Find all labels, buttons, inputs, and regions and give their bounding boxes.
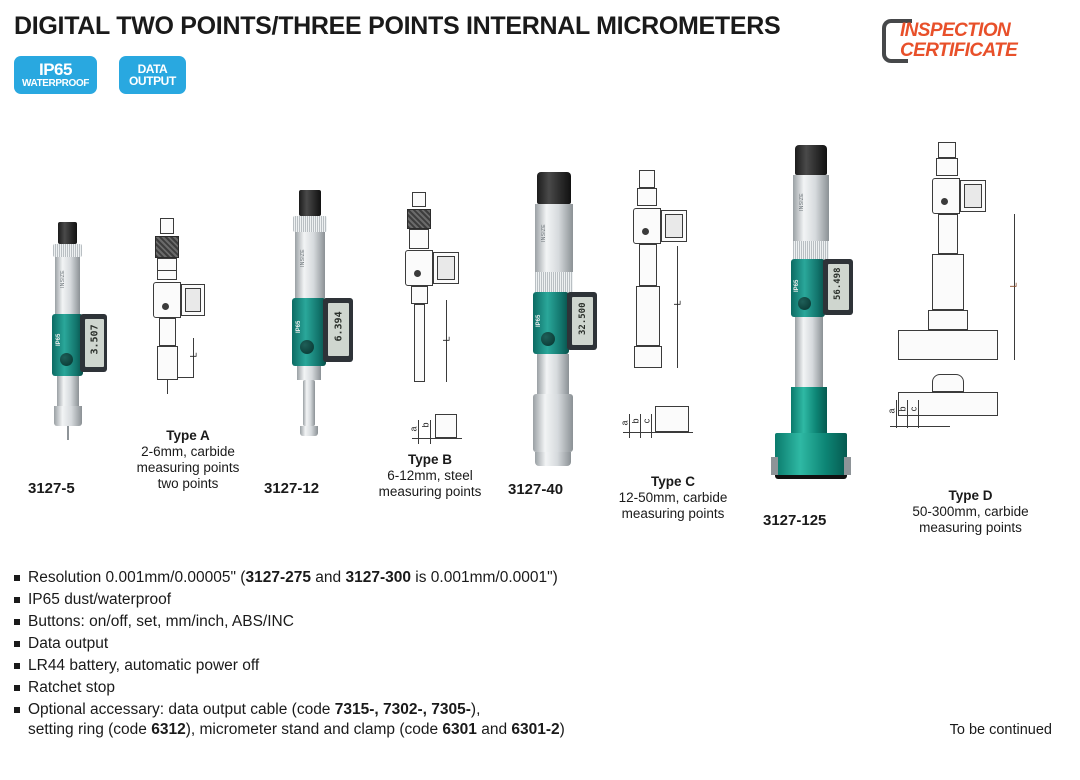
catalog-page: DIGITAL TWO POINTS/THREE POINTS INTERNAL… (0, 0, 1080, 780)
footer-note: To be continued (950, 722, 1052, 738)
green-base-block (775, 433, 847, 477)
drawing-mid-body (932, 254, 964, 310)
lcd-value: 56.498 (833, 266, 843, 300)
knurled-ring (535, 272, 573, 292)
product-group-3127-40: INSIZE IP65 32.500 L (495, 0, 755, 540)
range-a-line2: measuring points (137, 460, 240, 475)
ip65-body-mark: IP65 (536, 299, 542, 327)
spec-text: Ratchet stop (28, 678, 115, 698)
spec-item: IP65 dust/waterproof (14, 590, 565, 610)
drawing-knob-detail (162, 303, 169, 310)
spec-item: Resolution 0.001mm/0.00005" (3127-275 an… (14, 568, 565, 588)
sleeve-barrel (55, 257, 80, 314)
dimension-label-a: a (620, 420, 630, 425)
dimension-label-b: b (631, 418, 641, 423)
range-a-line3: two points (158, 476, 219, 491)
product-group-3127-125: INSIZE IP65 56.498 (745, 0, 1080, 560)
product-photo-3127-12: INSIZE IP65 6.394 (275, 190, 355, 440)
product-group-3127-5: INSIZE IP65 3.507 L 3 (0, 0, 250, 520)
extension-rod (303, 380, 315, 426)
product-group-3127-12: INSIZE IP65 6.394 L (250, 0, 500, 520)
drawing-display-screen (665, 214, 683, 238)
model-label-3127-12: 3127-12 (264, 480, 319, 497)
drawing-upper-shaft (938, 214, 958, 254)
ip65-body-mark: IP65 (794, 264, 800, 292)
thimble-cap (299, 190, 321, 216)
drawing-spindle-top (160, 218, 174, 234)
spec-text: Data output (28, 634, 108, 654)
brand-mark: INSIZE (541, 208, 547, 242)
drawing-section-ext-a (896, 400, 897, 428)
brand-mark: INSIZE (300, 235, 306, 267)
lower-barrel (533, 394, 573, 452)
range-c-line1: 12-50mm, carbide (619, 490, 728, 505)
drawing-knob-detail (941, 198, 948, 205)
drawing-knurled-knob (155, 236, 179, 258)
set-knob (798, 297, 811, 310)
dimension-line-l (677, 246, 678, 368)
product-photo-3127-125: INSIZE IP65 56.498 (765, 145, 875, 495)
set-knob (300, 340, 314, 354)
drawing-tip (167, 380, 168, 394)
product-photo-3127-40: INSIZE IP65 32.500 (515, 172, 605, 462)
drawing-sleeve-mark (157, 270, 177, 271)
bullet-icon (14, 568, 28, 581)
drawing-lower-shaft (636, 286, 660, 346)
dimension-label-b: b (898, 406, 908, 411)
model-label-3127-125: 3127-125 (763, 512, 826, 529)
dimension-line-l (193, 338, 194, 378)
drawing-extension-rod (414, 304, 425, 382)
drawing-section-ext-a (418, 420, 419, 444)
range-c-line2: measuring points (622, 506, 725, 521)
drawing-base-neck (928, 310, 968, 330)
thimble-cap (58, 222, 77, 244)
dimension-label-c: c (908, 407, 918, 412)
spec-text: LR44 battery, automatic power off (28, 656, 259, 676)
lcd-value: 32.500 (578, 299, 588, 335)
type-label-c: Type C (598, 474, 748, 490)
drawing-sleeve (409, 229, 429, 249)
drawing-display-body (633, 208, 661, 244)
drawing-display-screen (185, 288, 201, 312)
knurled-ring (793, 241, 829, 259)
product-drawing-type-b: L a b (390, 192, 500, 442)
lower-barrel (297, 366, 321, 380)
range-b-line1: 6-12mm, steel (387, 468, 473, 483)
drawing-display-body (405, 250, 433, 286)
dimension-label-a: a (409, 426, 419, 431)
bullet-icon (14, 656, 28, 669)
range-b-line2: measuring points (379, 484, 482, 499)
set-knob (541, 332, 555, 346)
type-label-b: Type B (355, 452, 505, 468)
dimension-label-l: L (673, 300, 683, 305)
product-drawing-type-a: L (140, 218, 240, 418)
drawing-section-base (898, 392, 998, 416)
measuring-head (300, 426, 318, 436)
measuring-head (535, 452, 571, 466)
spec-item: LR44 battery, automatic power off (14, 656, 565, 676)
drawing-sleeve (157, 258, 177, 280)
spec-item: Ratchet stop (14, 678, 565, 698)
range-a-line1: 2-6mm, carbide (141, 444, 235, 459)
model-label-3127-5: 3127-5 (28, 480, 75, 497)
drawing-knob-detail (642, 228, 649, 235)
knurled-ring (53, 244, 82, 257)
base-bottom-edge (775, 475, 847, 479)
bullet-icon (14, 612, 28, 625)
range-d-line1: 50-300mm, carbide (912, 504, 1028, 519)
dimension-label-l: L (442, 336, 452, 341)
drawing-display-body (153, 282, 181, 318)
thimble-cap (795, 145, 827, 175)
dimension-label-l: L (189, 352, 199, 357)
drawing-display-screen (437, 256, 455, 280)
lower-shaft (795, 317, 823, 387)
caption-type-b: Type B 6-12mm, steel measuring points (355, 452, 505, 500)
specification-list: Resolution 0.001mm/0.00005" (3127-275 an… (14, 568, 565, 742)
dimension-label-a: a (887, 408, 897, 413)
lcd-value: 6.394 (334, 310, 345, 342)
mid-shaft (537, 354, 569, 394)
spec-text: IP65 dust/waterproof (28, 590, 171, 610)
drawing-spindle-top (412, 192, 426, 207)
drawing-section-ext-b (907, 400, 908, 428)
drawing-section-top (932, 374, 964, 392)
thimble-cap (537, 172, 571, 204)
dimension-label-c: c (641, 419, 651, 424)
spec-text: Optional accessary: data output cable (c… (28, 700, 565, 740)
drawing-sleeve (936, 158, 958, 176)
drawing-section-axis (890, 426, 950, 427)
dimension-label-b: b (421, 422, 431, 427)
brand-mark: INSIZE (799, 177, 805, 211)
drawing-sleeve (637, 188, 657, 206)
set-knob (60, 353, 73, 366)
drawing-lower-body (411, 286, 428, 304)
drawing-section-head (435, 414, 457, 438)
measuring-tip (67, 426, 69, 440)
bullet-icon (14, 590, 28, 603)
spec-item: Optional accessary: data output cable (c… (14, 700, 565, 740)
lcd-value: 3.507 (90, 325, 101, 355)
drawing-section-head (655, 406, 689, 432)
type-label-d: Type D (888, 488, 1053, 504)
caption-type-c: Type C 12-50mm, carbide measuring points (598, 474, 748, 522)
product-drawing-type-d: L a b c (890, 142, 1075, 482)
dimension-tick-l (178, 377, 194, 378)
drawing-section-axis (623, 432, 693, 433)
drawing-display-screen (964, 184, 982, 208)
ip65-body-mark: IP65 (296, 305, 302, 333)
knurled-ring (293, 216, 327, 232)
spec-text: Buttons: on/off, set, mm/inch, ABS/INC (28, 612, 294, 632)
drawing-base-block (898, 330, 998, 360)
caption-type-a: Type A 2-6mm, carbide measuring points t… (113, 428, 263, 492)
bullet-icon (14, 700, 28, 713)
bullet-icon (14, 634, 28, 647)
lower-barrel (57, 376, 79, 406)
brand-mark: INSIZE (60, 258, 66, 288)
drawing-display-body (932, 178, 960, 214)
spec-item: Buttons: on/off, set, mm/inch, ABS/INC (14, 612, 565, 632)
drawing-head (634, 346, 662, 368)
ip65-body-mark: IP65 (56, 320, 62, 346)
base-foot-right (844, 457, 851, 475)
spec-item: Data output (14, 634, 565, 654)
drawing-section-ext-c (918, 400, 919, 428)
measuring-head (54, 406, 82, 426)
drawing-upper-shaft (639, 244, 657, 286)
range-d-line2: measuring points (919, 520, 1022, 535)
bullet-icon (14, 678, 28, 691)
model-label-3127-40: 3127-40 (508, 481, 563, 498)
drawing-head (157, 346, 178, 380)
base-foot-left (771, 457, 778, 475)
caption-type-d: Type D 50-300mm, carbide measuring point… (888, 488, 1053, 536)
drawing-section-axis (412, 438, 462, 439)
drawing-spindle-top (639, 170, 655, 188)
product-photo-3127-5: INSIZE IP65 3.507 (40, 222, 106, 432)
drawing-knurled-knob (407, 209, 431, 229)
spec-text: Resolution 0.001mm/0.00005" (3127-275 an… (28, 568, 558, 588)
product-drawing-type-c: L a b c (615, 170, 745, 470)
drawing-spindle-top (938, 142, 956, 158)
green-collar (791, 387, 827, 433)
type-label-a: Type A (113, 428, 263, 444)
dimension-label-l: L (1009, 282, 1019, 287)
drawing-knob-detail (414, 270, 421, 277)
drawing-lower-shaft (159, 318, 176, 346)
